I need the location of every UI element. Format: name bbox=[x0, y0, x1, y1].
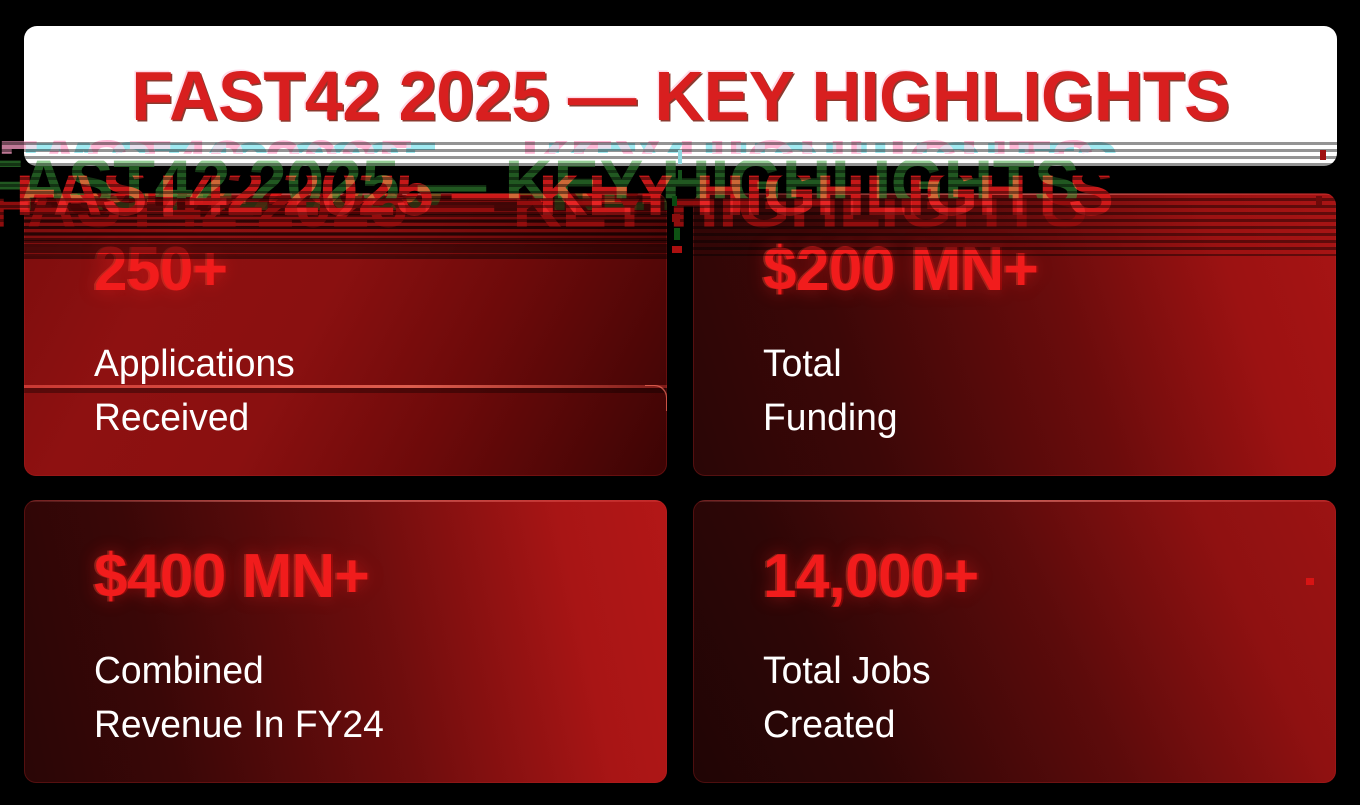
stat-label-line1: Total Jobs bbox=[763, 644, 1325, 698]
stat-label: Total Jobs Created bbox=[763, 644, 1325, 752]
slide-canvas: FAST42 2025 — KEY HIGHLIGHTS FAST42 2025… bbox=[0, 0, 1360, 805]
stat-value: $400 MN+ bbox=[94, 546, 650, 608]
page-title: FAST42 2025 — KEY HIGHLIGHTS bbox=[37, 26, 1324, 166]
stat-value: 14,000+ bbox=[763, 546, 1319, 608]
stat-label-line2: Received bbox=[94, 391, 656, 445]
stat-value: $200 MN+ bbox=[763, 239, 1319, 301]
stat-label: Combined Revenue In FY24 bbox=[94, 644, 656, 752]
stat-label-line1: Total bbox=[763, 337, 1325, 391]
header-panel: FAST42 2025 — KEY HIGHLIGHTS bbox=[24, 26, 1337, 166]
stat-card-total-jobs-created[interactable]: 14,000+ Total Jobs Created bbox=[693, 500, 1336, 783]
stat-card-total-funding[interactable]: $200 MN+ Total Funding bbox=[693, 193, 1336, 476]
stat-label-line2: Funding bbox=[763, 391, 1325, 445]
stat-label-line1: Applications bbox=[94, 337, 656, 391]
stat-label: Applications Received bbox=[94, 337, 656, 445]
stat-value: 250+ bbox=[94, 239, 650, 301]
stats-grid: FAST42 2025 — KEY HIGHLIGHTS FAST42 2025… bbox=[24, 193, 1336, 783]
stat-card-combined-revenue[interactable]: $400 MN+ Combined Revenue In FY24 bbox=[24, 500, 667, 783]
glitch-artifact-6 bbox=[678, 170, 682, 180]
stat-label-line2: Revenue In FY24 bbox=[94, 698, 656, 752]
stat-label: Total Funding bbox=[763, 337, 1325, 445]
stat-label-line2: Created bbox=[763, 698, 1325, 752]
stat-label-line1: Combined bbox=[94, 644, 656, 698]
stat-card-applications-received[interactable]: FAST42 2025 — KEY HIGHLIGHTS FAST42 2025… bbox=[24, 193, 667, 476]
